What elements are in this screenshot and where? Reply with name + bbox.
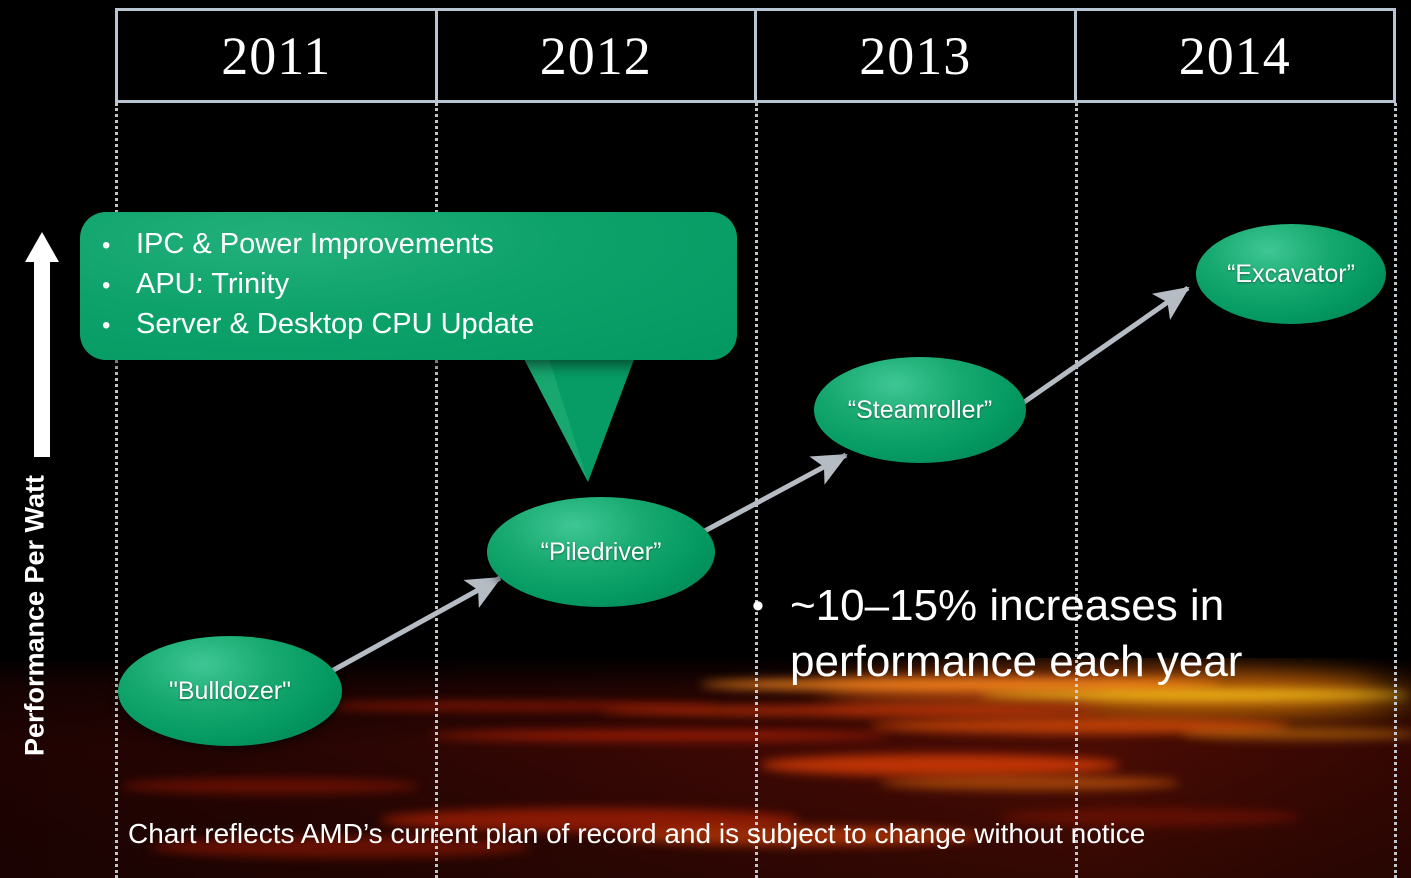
gridline-2013-2014 (1075, 103, 1078, 878)
node-label-excavator: “Excavator” (1227, 260, 1355, 289)
bullet-glyph-icon: • (102, 227, 136, 264)
gridline-2012-2013 (755, 103, 758, 878)
lava-streak-5 (300, 702, 720, 710)
arrow-head (25, 232, 59, 262)
node-piledriver[interactable]: “Piledriver” (487, 497, 715, 607)
year-label-2013: 2013 (859, 25, 971, 87)
node-bulldozer[interactable]: "Bulldozer" (118, 636, 342, 746)
y-axis-label: Performance Per Watt (20, 406, 51, 826)
slide-root: 2011 2012 2013 2014 Performance Per Watt… (0, 0, 1411, 878)
node-excavator[interactable]: “Excavator” (1196, 224, 1386, 324)
lava-streak-8 (880, 776, 1180, 790)
year-cell-2011[interactable]: 2011 (118, 11, 438, 100)
lava-streak-11 (120, 778, 420, 794)
callout-item-text-0: IPC & Power Improvements (136, 226, 494, 263)
highlight-bullet-glyph-icon: • (752, 578, 790, 634)
callout-list: • IPC & Power Improvements • APU: Trinit… (80, 226, 737, 344)
lava-streak-3 (600, 706, 1100, 715)
year-cell-2013[interactable]: 2013 (757, 11, 1077, 100)
lava-streak-12 (1180, 728, 1411, 740)
timeline-header: 2011 2012 2013 2014 (115, 8, 1396, 103)
gridline-right (1394, 103, 1397, 878)
node-steamroller[interactable]: “Steamroller” (814, 357, 1026, 463)
footer-disclaimer: Chart reflects AMD’s current plan of rec… (128, 818, 1145, 850)
bullet-glyph-icon: • (102, 307, 136, 344)
arrow-steamroller-to-excavator (1020, 288, 1188, 405)
year-cell-2014[interactable]: 2014 (1077, 11, 1394, 100)
lava-streak-6 (430, 730, 890, 741)
callout-item-text-1: APU: Trinity (136, 266, 289, 303)
callout-tail-layer (0, 0, 1411, 878)
callout-item-text-2: Server & Desktop CPU Update (136, 306, 534, 343)
callout-item-2: • Server & Desktop CPU Update (102, 306, 737, 344)
connector-arrows (0, 0, 1411, 878)
lava-streak-7 (760, 754, 1120, 776)
node-label-piledriver: “Piledriver” (541, 538, 662, 567)
lava-streak-4 (870, 718, 1290, 734)
year-label-2011: 2011 (221, 25, 331, 87)
year-cell-2012[interactable]: 2012 (438, 11, 758, 100)
lava-streak-2 (980, 690, 1410, 700)
bullet-glyph-icon: • (102, 267, 136, 304)
node-label-bulldozer: "Bulldozer" (169, 677, 291, 706)
arrow-piledriver-to-steamroller (688, 455, 846, 540)
highlight-bullet: • ~10–15% increases in performance each … (752, 578, 1362, 690)
year-label-2014: 2014 (1179, 25, 1291, 87)
highlight-bullet-text: ~10–15% increases in performance each ye… (790, 578, 1362, 690)
year-label-2012: 2012 (540, 25, 652, 87)
callout-item-0: • IPC & Power Improvements (102, 226, 737, 264)
node-label-steamroller: “Steamroller” (848, 396, 992, 425)
callout-item-1: • APU: Trinity (102, 266, 737, 304)
callout-box[interactable]: • IPC & Power Improvements • APU: Trinit… (80, 212, 737, 360)
arrow-bulldozer-to-piledriver (330, 578, 500, 672)
